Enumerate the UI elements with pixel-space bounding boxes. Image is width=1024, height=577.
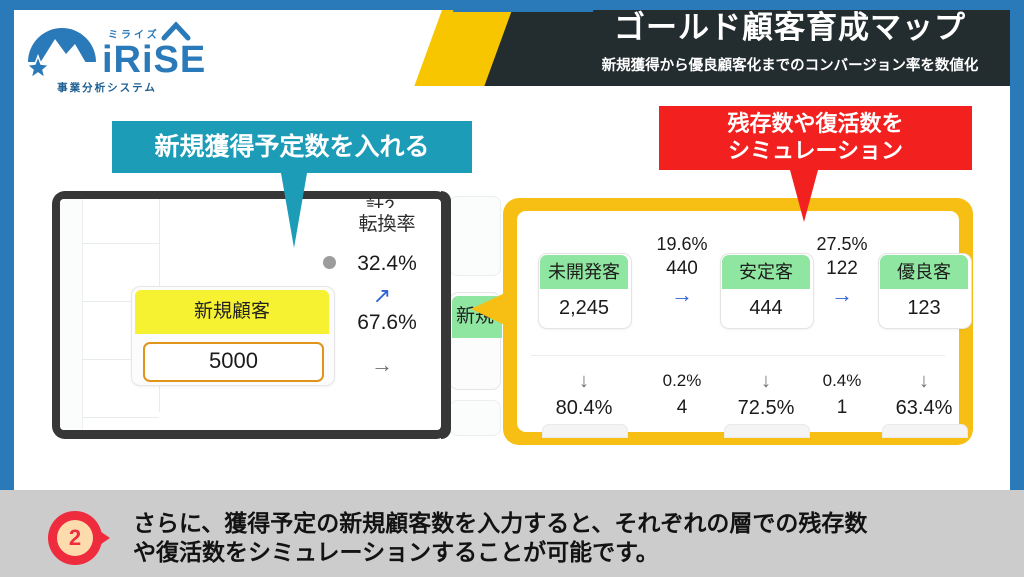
card-stub (882, 424, 968, 438)
transition-gap: 19.6% 440 → (645, 232, 719, 308)
sheet-row-divider (82, 243, 159, 244)
arrow-down-icon: ↓ (882, 368, 966, 394)
transition-rate: 19.6% (645, 232, 719, 256)
transition-rate: 27.5% (805, 232, 879, 256)
status-dot-icon (323, 256, 336, 269)
transition-arrow-icon: → (645, 282, 719, 308)
frame-top-border (0, 0, 1024, 10)
new-customer-header: 新規顧客 (135, 290, 329, 334)
arrow-right-icon: → (360, 352, 404, 378)
retention-rate: 80.4% (542, 394, 626, 422)
revival-cell: 0.2% 4 (645, 368, 719, 422)
conversion-rate-top: 32.4% (348, 251, 426, 277)
card-stub (542, 424, 628, 438)
revival-count: 1 (805, 394, 879, 422)
segment-card-header: 安定客 (722, 255, 810, 289)
segment-card-header: 優良客 (880, 255, 968, 289)
arrow-down-icon: ↓ (724, 368, 808, 394)
revival-cell: 0.4% 1 (805, 368, 879, 422)
transition-count: 440 (645, 256, 719, 282)
arrow-up-right-icon: ↗ (360, 283, 404, 309)
retention-cell: ↓ 63.4% (882, 368, 966, 422)
retention-cell: ↓ 72.5% (724, 368, 808, 422)
sheet-row-divider (82, 417, 159, 418)
transition-arrow-icon: → (805, 282, 879, 308)
step-badge: 2 (48, 511, 102, 565)
caption-line1: さらに、獲得予定の新規顧客数を入力すると、それぞれの層での残存数 (133, 508, 1013, 538)
revival-count: 4 (645, 394, 719, 422)
sheet-gutter (60, 199, 83, 430)
device-partial-card-top (449, 196, 501, 276)
arrow-down-icon: ↓ (542, 368, 626, 394)
simulation-panel-pointer (471, 292, 507, 326)
device-partial-card-bottom (449, 400, 501, 436)
page-title: ゴールド顧客育成マップ (556, 6, 1024, 50)
revival-rate: 0.4% (805, 368, 879, 394)
new-customer-input[interactable]: 5000 (143, 342, 324, 382)
caption-line2: や復活数をシミュレーションすることが可能です。 (133, 537, 1013, 567)
card-stub (724, 424, 810, 438)
revival-rate: 0.2% (645, 368, 719, 394)
brand-logo: ミライズ iRiSE (22, 16, 212, 94)
retention-rate: 63.4% (882, 394, 966, 422)
svg-text:iRiSE: iRiSE (102, 39, 206, 81)
callout-red-pointer (790, 170, 818, 222)
callout-teal-pointer (281, 173, 307, 248)
retention-cell: ↓ 80.4% (542, 368, 626, 422)
slide-canvas: ゴールド顧客育成マップ 新規獲得から優良顧客化までのコンバージョン率を数値化 ミ… (0, 0, 1024, 577)
device-right-bezel (441, 191, 451, 439)
transition-count: 122 (805, 256, 879, 282)
segment-card-value: 2,245 (540, 291, 628, 325)
transition-gap: 27.5% 122 → (805, 232, 879, 308)
segment-card-value: 444 (722, 291, 810, 325)
segment-card-header: 未開発客 (540, 255, 628, 289)
callout-red-line2: シミュレーション (659, 136, 972, 166)
conversion-rate-label: 転換率 (348, 212, 426, 238)
device-cut-text: 計2 (352, 192, 408, 208)
conversion-rate-bottom: 67.6% (348, 310, 426, 336)
callout-red-line1: 残存数や復活数を (659, 109, 972, 139)
frame-right-border (1010, 0, 1024, 490)
step-badge-number: 2 (57, 520, 93, 556)
segment-card-value: 123 (880, 291, 968, 325)
callout-teal-text: 新規獲得予定数を入れる (112, 121, 472, 173)
page-subtitle: 新規獲得から優良顧客化までのコンバージョン率を数値化 (556, 54, 1024, 78)
frame-left-border (0, 0, 14, 490)
panel-divider (531, 355, 945, 356)
retention-rate: 72.5% (724, 394, 808, 422)
